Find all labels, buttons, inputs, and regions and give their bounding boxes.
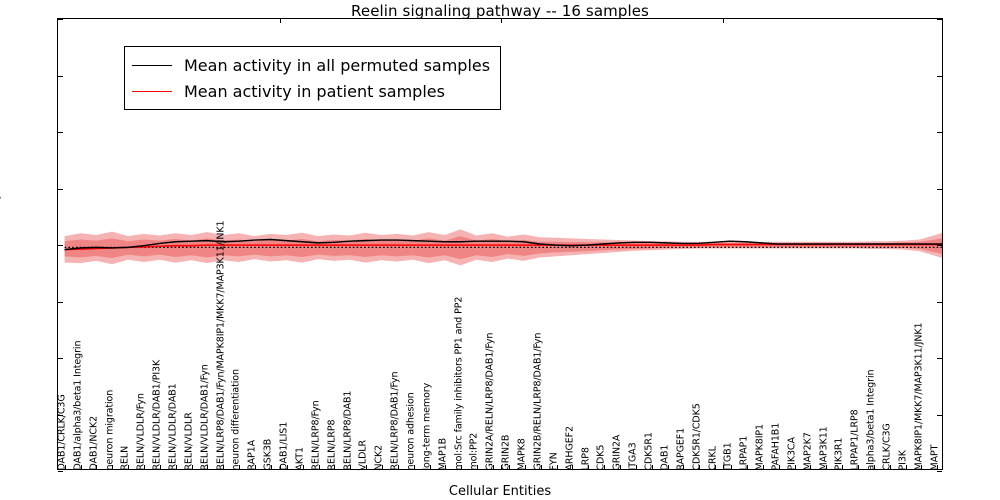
x-tick-label: GSK3B	[264, 438, 274, 470]
x-tick-label: PAFAH1B1	[771, 422, 781, 470]
x-tick-label: MAPT	[930, 444, 940, 470]
x-tick-mark	[280, 19, 281, 23]
x-tick-label: RELN/VLDLR	[184, 412, 194, 470]
x-tick-label: neuron adhesion	[407, 392, 417, 470]
y-tick-mark	[937, 245, 942, 246]
x-tick-label: CDK5R1/CDK5	[692, 403, 702, 470]
x-tick-label: GRIN2B	[502, 434, 512, 470]
y-tick-mark	[58, 132, 63, 133]
x-tick-label: FYN	[549, 452, 559, 470]
x-tick-label: CDK5	[597, 444, 607, 470]
x-tick-label: RAP1A	[248, 440, 258, 471]
x-tick-label: RELN/VLDLR/DAB1/Fyn	[200, 364, 210, 470]
x-tick-label: PIK3R1	[835, 437, 845, 470]
y-tick-mark	[937, 189, 942, 190]
x-tick-label: long-term memory	[422, 382, 432, 470]
y-tick-mark	[58, 245, 63, 246]
x-tick-label: ARHGEF2	[565, 426, 575, 470]
y-tick-mark	[937, 19, 942, 20]
legend-swatch-permuted	[132, 65, 172, 66]
x-tick-label: CRKL	[708, 446, 718, 470]
x-tick-label: RELN/LRP8	[327, 419, 337, 470]
legend-label-permuted: Mean activity in all permuted samples	[184, 56, 490, 75]
x-tick-label: neuron differentiation	[232, 369, 242, 470]
x-tick-label: PIK3CA	[787, 437, 797, 470]
x-tick-label: LRPAP1	[740, 435, 750, 470]
legend-item: Mean activity in all permuted samples	[132, 52, 490, 78]
x-tick-label: RELN/LRP8/DAB1	[343, 390, 353, 470]
x-tick-label: CDK5R1	[645, 432, 655, 470]
x-tick-label: AKT1	[295, 447, 305, 470]
x-tick-mark	[723, 19, 724, 23]
y-tick-mark	[58, 302, 63, 303]
x-tick-label: RELN	[121, 445, 131, 470]
x-tick-label: GRIN2A/RELN/LRP8/DAB1/Fyn	[486, 332, 496, 470]
y-tick-mark	[58, 358, 63, 359]
x-tick-label: CRLK/C3G	[883, 423, 893, 470]
y-tick-mark	[937, 76, 942, 77]
x-tick-label: neuron migration	[105, 389, 115, 470]
legend-label-patient: Mean activity in patient samples	[184, 82, 445, 101]
x-tick-label: ITGA3	[629, 442, 639, 470]
y-tick-mark	[937, 132, 942, 133]
y-tick-mark	[58, 76, 63, 77]
legend-swatch-patient	[132, 91, 172, 92]
x-tick-label: RAPGEF1	[676, 427, 686, 470]
x-tick-label: DAB1/LIS1	[280, 421, 290, 470]
x-tick-label: GRIN2B/RELN/LRP8/DAB1/Fyn	[533, 332, 543, 470]
x-tick-label: alpha3/beta1 Integrin	[867, 369, 877, 470]
y-axis-label: Inferred Activity	[0, 192, 2, 296]
x-tick-label: LRPAP1/LRP8	[851, 409, 861, 470]
x-tick-label: MAP1B	[438, 438, 448, 471]
x-tick-label: GRIN2A	[613, 434, 623, 470]
x-tick-label: NCK2	[375, 444, 385, 470]
x-tick-mark	[501, 19, 502, 23]
x-tick-label: MAP2K7	[803, 432, 813, 470]
y-tick-mark	[58, 19, 63, 20]
x-tick-label: MAPK8	[518, 438, 528, 470]
x-tick-label: RELN/LRP8/DAB1/Fyn	[391, 371, 401, 470]
x-tick-label: MAPK8IP1	[756, 424, 766, 470]
x-tick-label: DAB1/alpha3/beta1 Integrin	[73, 340, 83, 470]
plot-area: Mean activity in all permuted samples Me…	[57, 18, 943, 470]
y-tick-mark	[937, 358, 942, 359]
x-tick-label: VLDLR	[359, 439, 369, 470]
x-tick-label: mol:PP2	[470, 432, 480, 470]
x-tick-label: DAB1/NCK2	[89, 415, 99, 470]
y-tick-mark	[58, 471, 63, 472]
y-tick-mark	[58, 189, 63, 190]
x-tick-label: RELN/LRP8/DAB1/Fyn/MAPK8IP1/MKK7/MAP3K11…	[216, 220, 226, 470]
legend: Mean activity in all permuted samples Me…	[124, 46, 501, 110]
y-tick-mark	[937, 471, 942, 472]
x-tick-label: LRP8	[581, 447, 591, 470]
x-axis-label: Cellular Entities	[0, 484, 1000, 499]
x-tick-label: ITGB1	[724, 442, 734, 470]
y-tick-mark	[937, 415, 942, 416]
x-tick-label: RELN/VLDLR/DAB1/PI3K	[153, 359, 163, 470]
figure: Reelin signaling pathway -- 16 samples I…	[0, 0, 1000, 500]
x-tick-label: MAP3K11	[819, 426, 829, 470]
x-tick-label: DAB1	[660, 444, 670, 470]
x-tick-label: RELN/LRP8/Fyn	[311, 400, 321, 470]
x-tick-label: MAPK8IP1/MKK7/MAP3K11/JNK1	[914, 322, 924, 470]
legend-item: Mean activity in patient samples	[132, 78, 490, 104]
x-tick-label: PI3K	[898, 450, 908, 470]
x-tick-label: mol:Src family inhibitors PP1 and PP2	[454, 296, 464, 470]
x-tick-label: RELN/VLDLR/DAB1	[169, 383, 179, 470]
y-tick-mark	[937, 302, 942, 303]
x-tick-label: RELN/VLDLR/Fyn	[137, 393, 147, 470]
x-tick-label: DAB1/CRLK/C3G	[57, 394, 67, 470]
